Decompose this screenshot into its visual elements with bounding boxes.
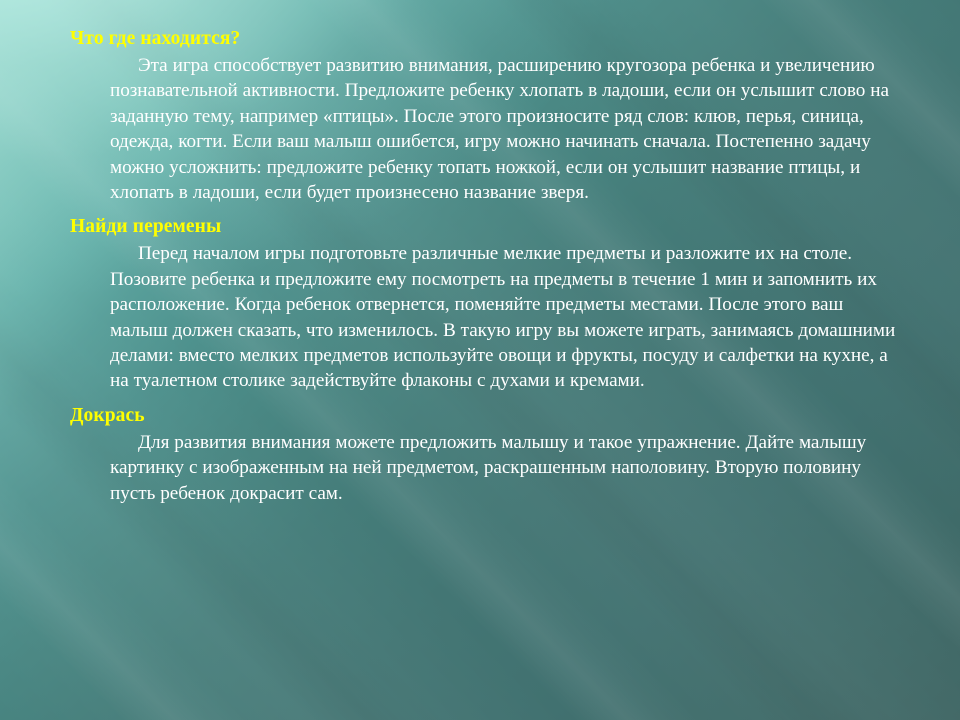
section-heading: Найди перемены	[70, 214, 932, 240]
slide-content: Что где находится? Эта игра способствует…	[0, 0, 960, 720]
section-spacer	[0, 394, 932, 403]
slide-canvas: Что где находится? Эта игра способствует…	[0, 0, 960, 720]
section-dokras: Докрась Для развития внимания можете пре…	[0, 403, 932, 506]
section-body: Для развития внимания можете предложить …	[110, 430, 902, 506]
section-body: Эта игра способствует развитию внимания,…	[110, 53, 902, 205]
section-spacer	[0, 205, 932, 214]
section-body: Перед началом игры подготовьте различные…	[110, 241, 902, 393]
section-naydi-peremeny: Найди перемены Перед началом игры подгот…	[0, 214, 932, 393]
section-chto-gde-nahoditsya: Что где находится? Эта игра способствует…	[0, 26, 932, 205]
section-heading: Докрась	[70, 403, 932, 429]
section-heading: Что где находится?	[70, 26, 932, 52]
